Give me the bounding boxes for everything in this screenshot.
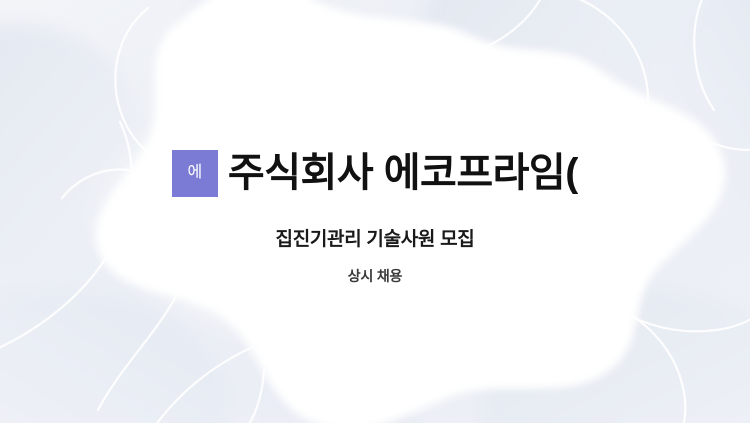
poster-content: 에 주식회사 에코프라임( 집진기관리 기술사원 모집 상시 채용 (0, 0, 750, 423)
company-title-row: 에 주식회사 에코프라임( (0, 146, 750, 200)
job-posting-poster: 에 주식회사 에코프라임( 집진기관리 기술사원 모집 상시 채용 (0, 0, 750, 423)
job-title: 집진기관리 기술사원 모집 (0, 228, 750, 253)
company-name: 주식회사 에코프라임( (228, 152, 578, 194)
hiring-period: 상시 채용 (0, 267, 750, 285)
company-logo-badge: 에 (172, 150, 218, 197)
